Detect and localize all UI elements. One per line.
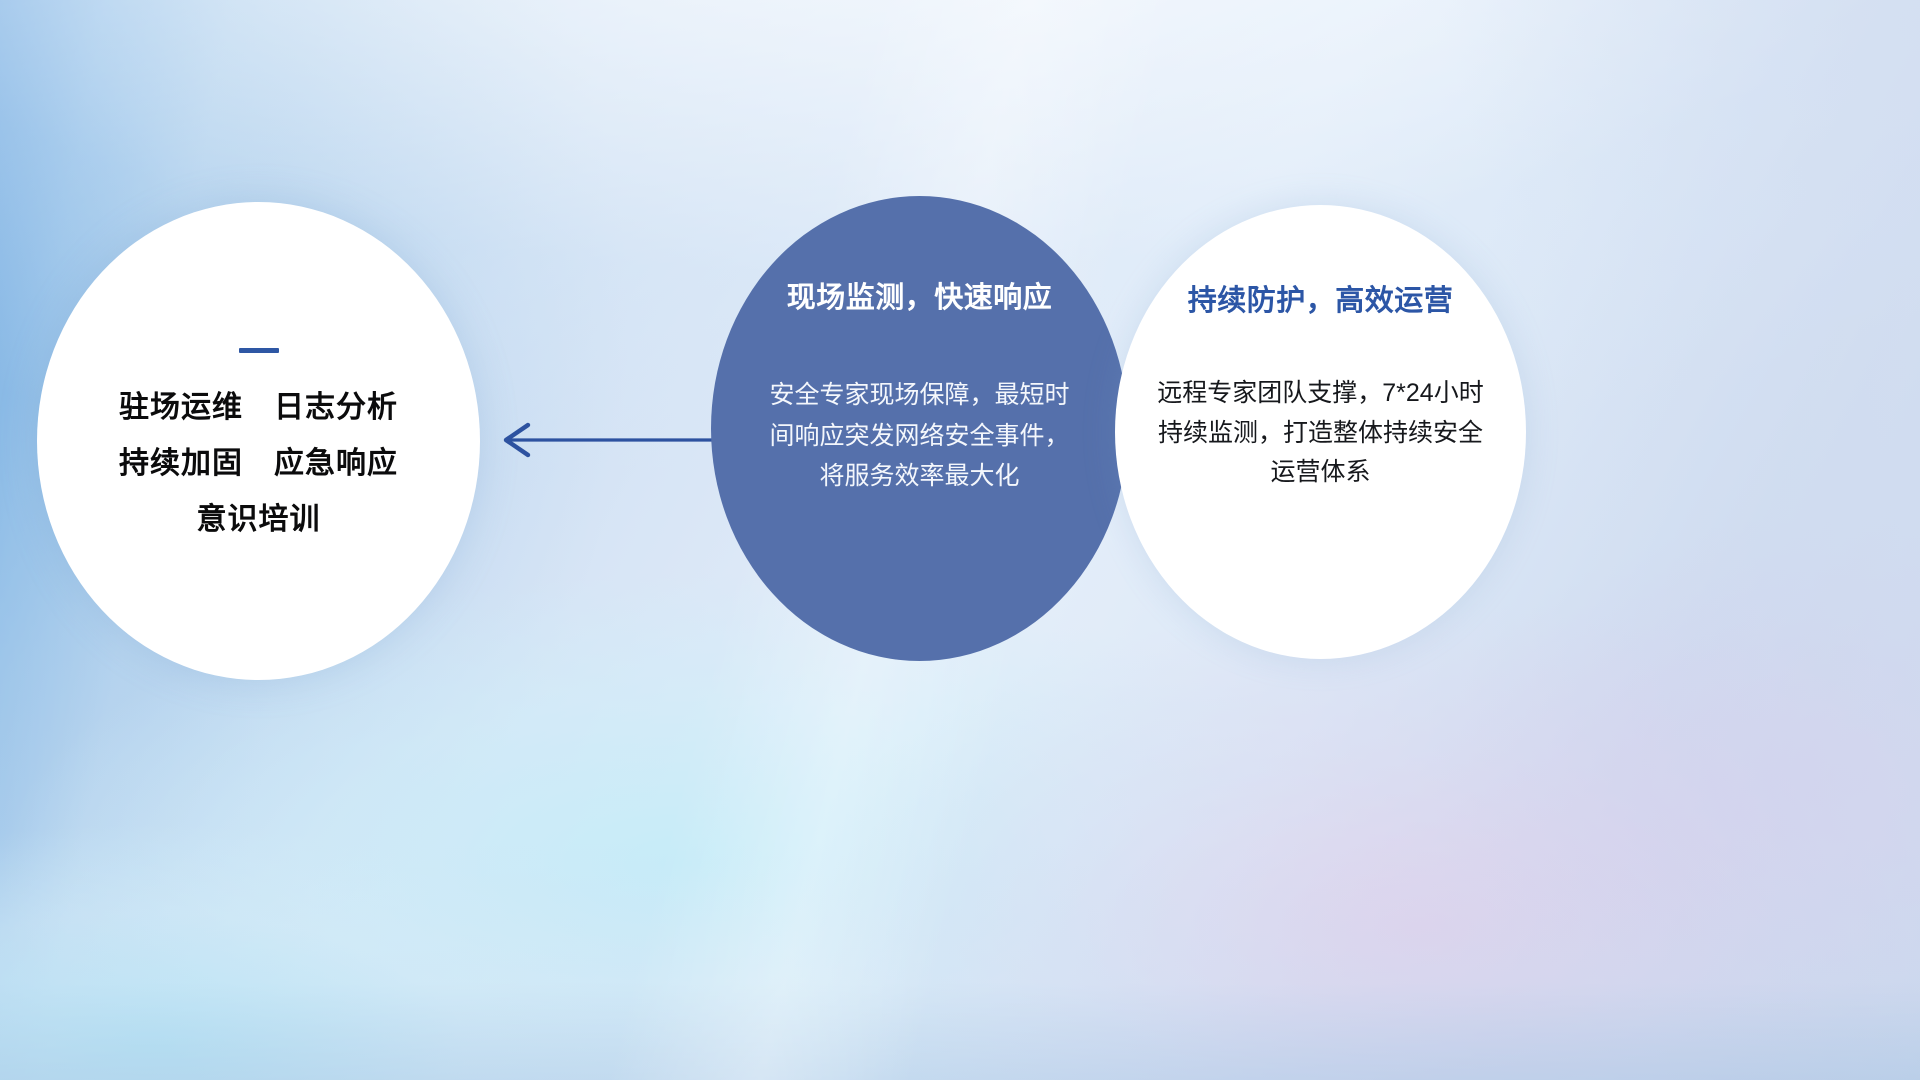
keyword-line-2: 持续加固 应急响应 [119, 449, 398, 479]
title-divider-dash [239, 348, 279, 353]
continuous-circle-body: 远程专家团队支撑，7*24小时持续监测，打造整体持续安全运营体系 [1147, 374, 1495, 493]
keyword-line-1: 驻场运维 日志分析 [119, 393, 398, 423]
onsite-circle-body: 安全专家现场保障，最短时间响应突发网络安全事件，将服务效率最大化 [770, 375, 1070, 497]
service-circle-continuous[interactable]: 持续防护，高效运营 远程专家团队支撑，7*24小时持续监测，打造整体持续安全运营… [1115, 205, 1526, 659]
left-arrow-icon [480, 400, 740, 480]
service-circle-onsite[interactable]: 现场监测，快速响应 安全专家现场保障，最短时间响应突发网络安全事件，将服务效率最… [711, 196, 1128, 661]
onsite-circle-title: 现场监测，快速响应 [787, 282, 1053, 315]
keyword-line-3: 意识培训 [197, 505, 321, 535]
continuous-circle-title: 持续防护，高效运营 [1188, 285, 1454, 318]
capability-circle-left[interactable]: 驻场运维 日志分析 持续加固 应急响应 意识培训 [37, 202, 480, 680]
